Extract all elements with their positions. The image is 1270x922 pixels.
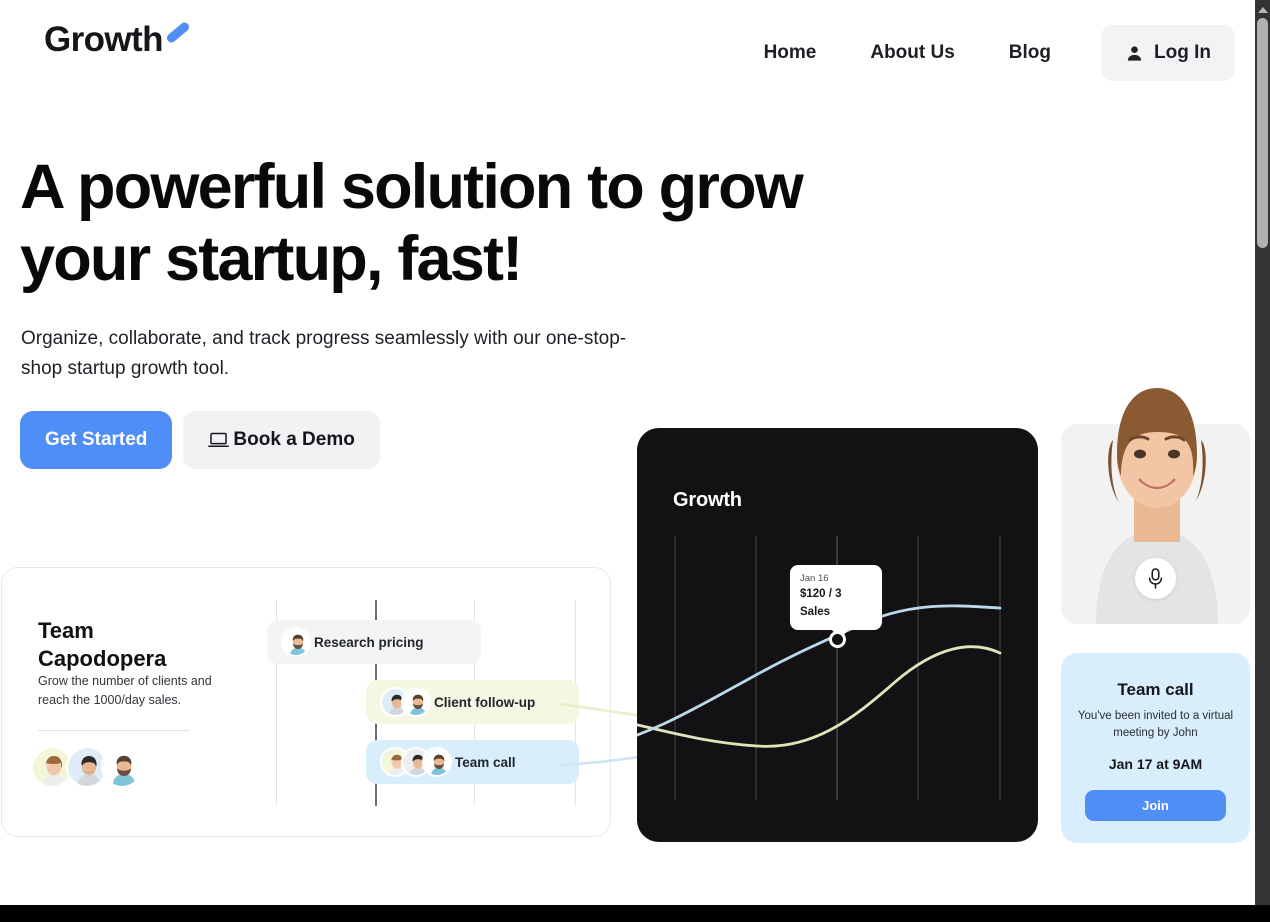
task-pill-research-pricing[interactable]: Research pricing bbox=[267, 620, 481, 664]
task-avatars bbox=[380, 687, 422, 717]
scrollbar-thumb[interactable] bbox=[1257, 18, 1268, 248]
main-navigation: Home About Us Blog Log In bbox=[737, 25, 1235, 81]
call-card-date: Jan 17 at 9AM bbox=[1061, 756, 1250, 772]
team-call-invite-card: Team call You've been invited to a virtu… bbox=[1061, 653, 1250, 843]
logo[interactable]: Growth bbox=[44, 22, 191, 57]
task-avatars bbox=[380, 747, 443, 777]
hero-cta-row: Get Started Book a Demo bbox=[20, 411, 380, 469]
team-card-title: Team Capodopera bbox=[38, 617, 228, 672]
team-card-description: Grow the number of clients and reach the… bbox=[38, 672, 238, 711]
task-label: Research pricing bbox=[314, 635, 424, 650]
avatar bbox=[422, 747, 452, 777]
chart-tooltip: Jan 16 $120 / 3 Sales bbox=[790, 565, 882, 630]
chart-series-revenue bbox=[637, 647, 1000, 747]
task-label: Team call bbox=[455, 755, 516, 770]
hero-subtitle: Organize, collaborate, and track progres… bbox=[21, 324, 641, 385]
task-pill-team-call[interactable]: Team call bbox=[366, 740, 579, 784]
hero-title: A powerful solution to grow your startup… bbox=[20, 152, 920, 296]
avatar bbox=[281, 627, 311, 657]
window-bottom-bar bbox=[0, 905, 1270, 922]
call-card-body: You've been invited to a virtual meeting… bbox=[1061, 708, 1250, 743]
nav-item-about-us[interactable]: About Us bbox=[843, 25, 981, 81]
nav-item-home[interactable]: Home bbox=[737, 25, 844, 81]
site-header: Growth Home About Us Blog Log In bbox=[0, 0, 1255, 106]
task-pill-client-follow-up[interactable]: Client follow-up bbox=[366, 680, 579, 724]
laptop-icon bbox=[208, 432, 229, 448]
team-card-divider bbox=[38, 730, 190, 731]
avatar bbox=[401, 687, 431, 717]
page-viewport: Growth Home About Us Blog Log In A power… bbox=[0, 0, 1255, 905]
task-avatars bbox=[281, 627, 302, 657]
person-icon bbox=[1125, 44, 1144, 63]
book-demo-button[interactable]: Book a Demo bbox=[183, 411, 379, 469]
logo-text: Growth bbox=[44, 22, 163, 57]
spark-accent-icon bbox=[165, 21, 191, 45]
join-call-button[interactable]: Join bbox=[1085, 790, 1226, 821]
team-avatar-group bbox=[31, 746, 136, 788]
login-button[interactable]: Log In bbox=[1101, 25, 1235, 81]
microphone-button[interactable] bbox=[1135, 558, 1176, 599]
call-card-title: Team call bbox=[1061, 680, 1250, 700]
login-label: Log In bbox=[1154, 42, 1211, 64]
nav-item-blog[interactable]: Blog bbox=[982, 25, 1078, 81]
chart-tooltip-date: Jan 16 bbox=[800, 572, 872, 586]
book-demo-label: Book a Demo bbox=[233, 429, 354, 451]
get-started-button[interactable]: Get Started bbox=[20, 411, 172, 469]
scroll-up-arrow-icon[interactable] bbox=[1255, 2, 1270, 17]
vertical-scrollbar[interactable] bbox=[1255, 0, 1270, 922]
chart-data-point-marker[interactable] bbox=[829, 631, 846, 648]
avatar bbox=[101, 746, 143, 788]
task-label: Client follow-up bbox=[434, 695, 535, 710]
chart-tooltip-value: $120 / 3 Sales bbox=[800, 586, 872, 621]
